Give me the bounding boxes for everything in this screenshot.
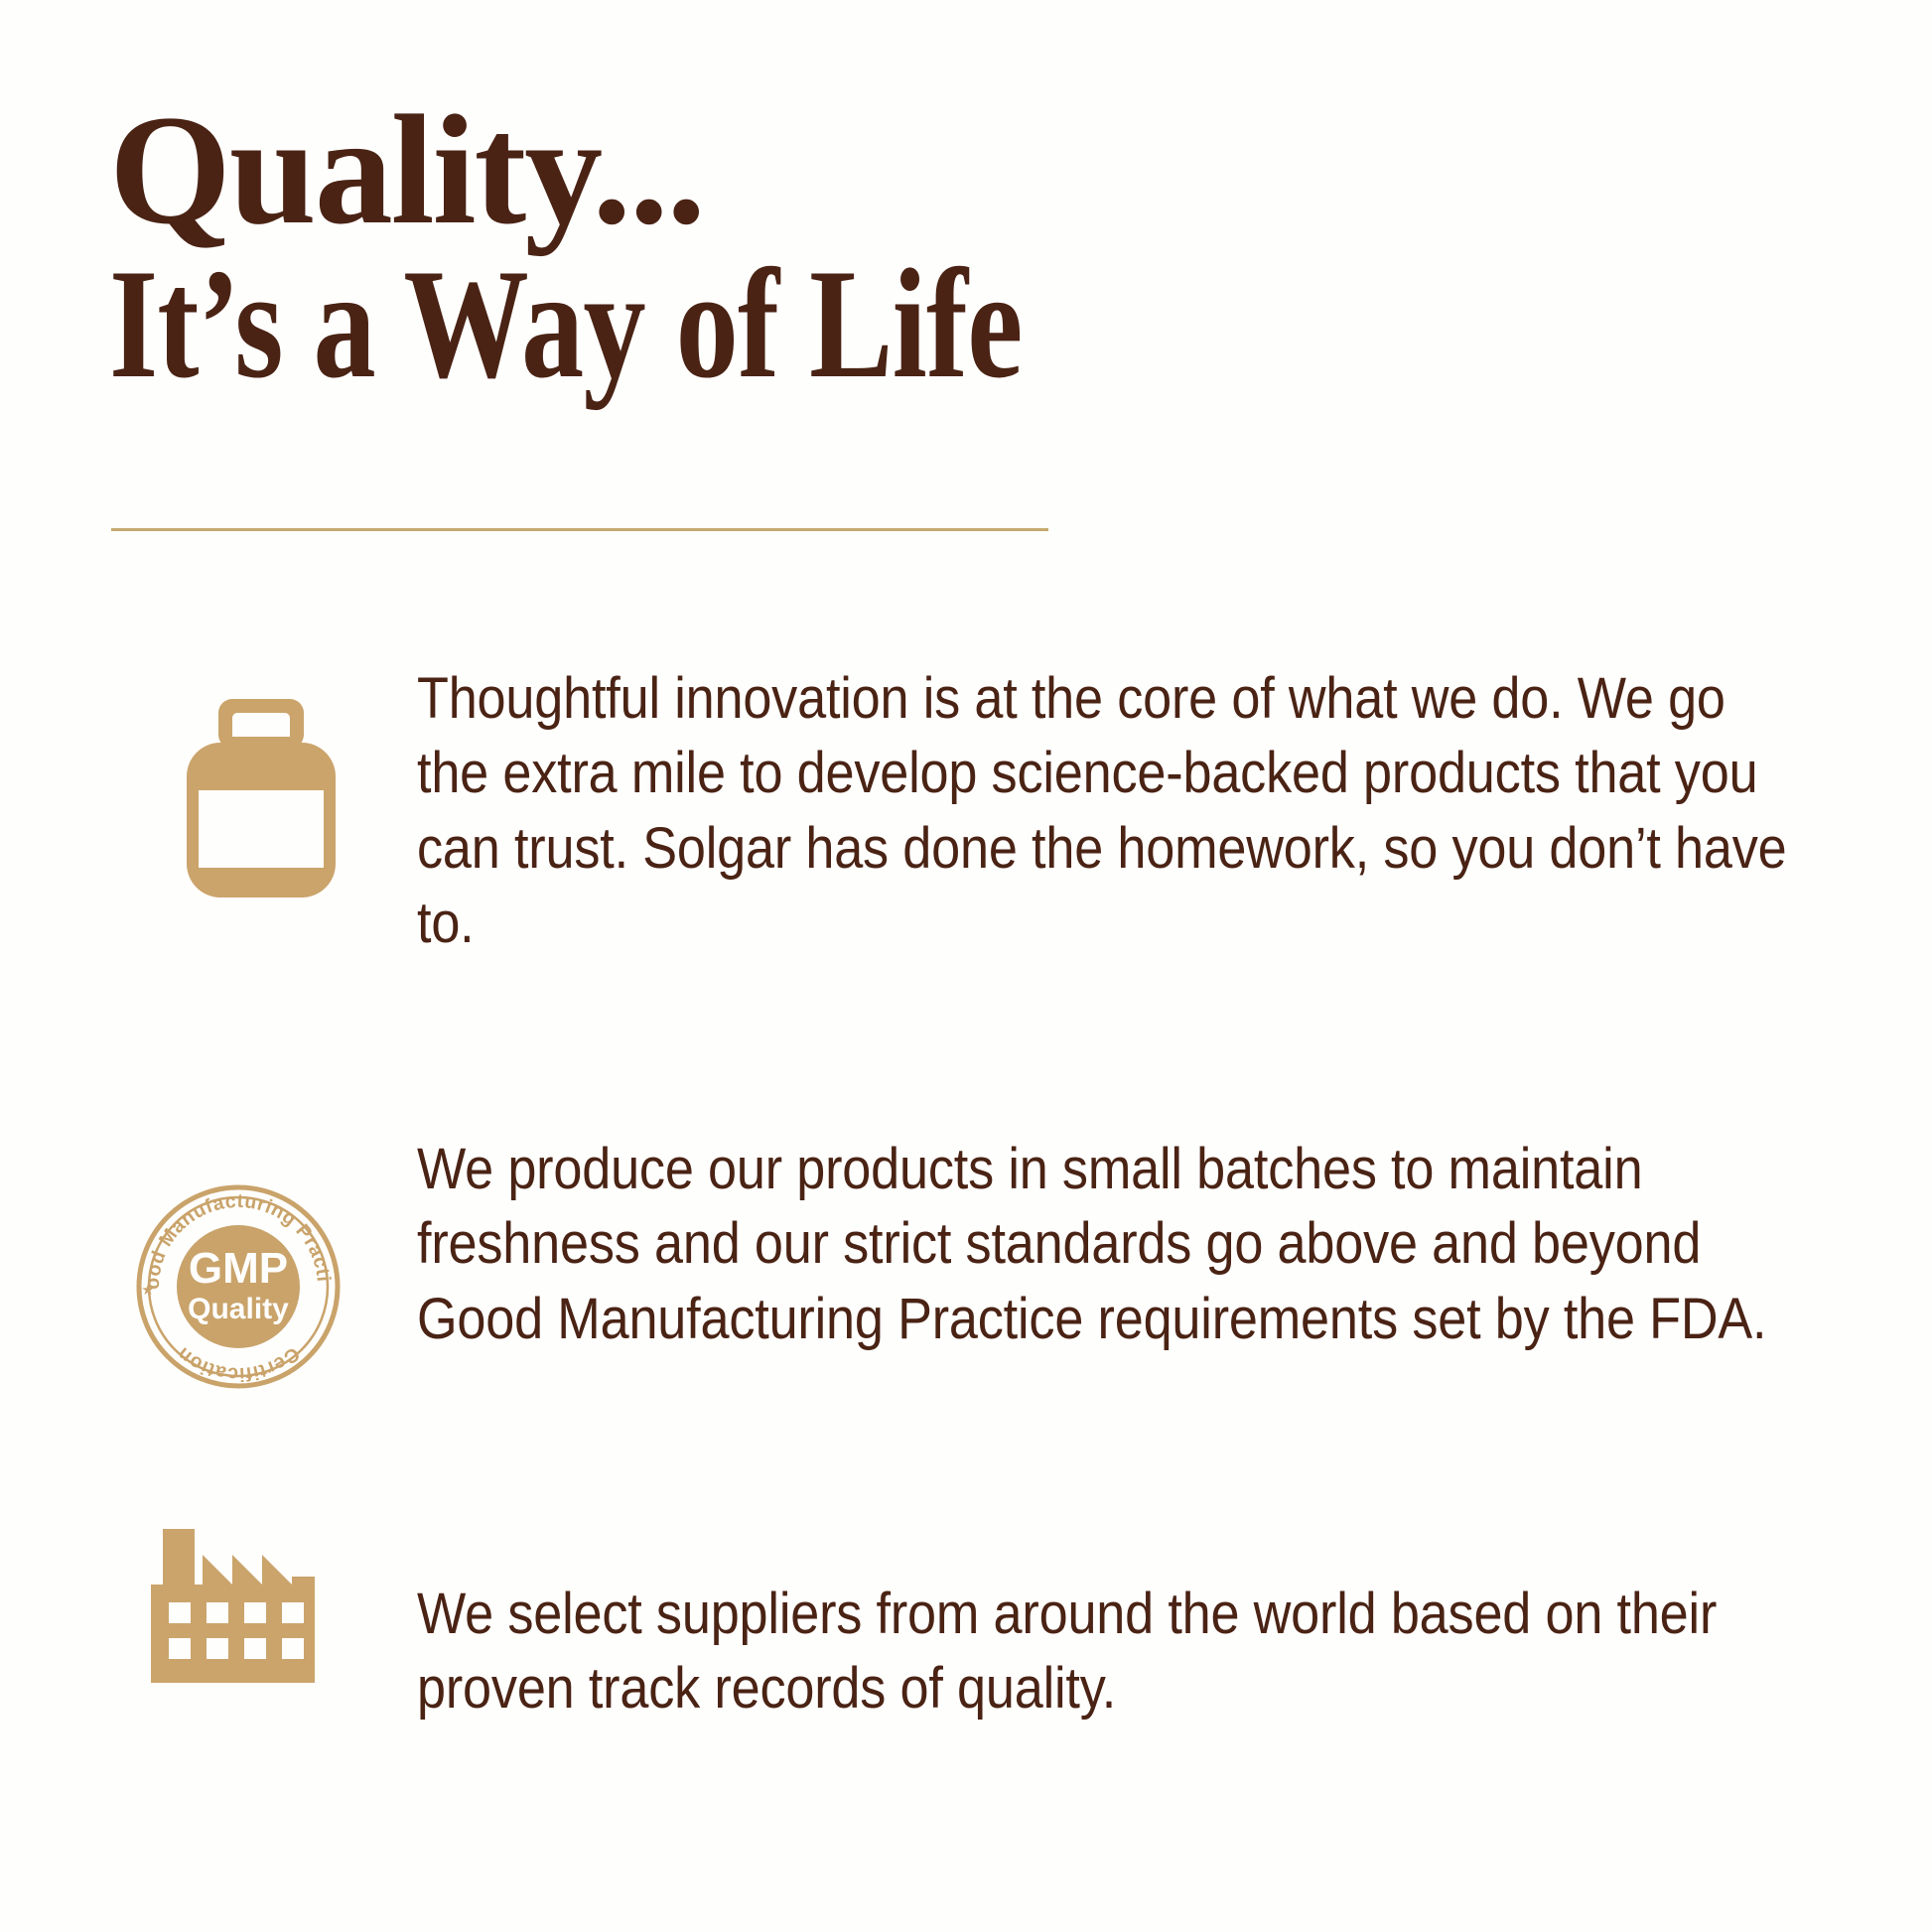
svg-text:GMP: GMP xyxy=(189,1244,288,1293)
gmp-quality-seal-icon: Good Manufacturing Practice Certificatio… xyxy=(131,1179,345,1394)
feature-text-innovation: Thoughtful innovation is at the core of … xyxy=(417,661,1811,961)
feature-text-small-batches: We produce our products in small batches… xyxy=(417,1132,1829,1356)
svg-text:★: ★ xyxy=(141,1281,154,1299)
factory-icon xyxy=(151,1529,315,1683)
quality-page: Quality... It’s a Way of Life T xyxy=(0,0,1932,1932)
svg-text:Quality: Quality xyxy=(188,1293,289,1325)
supplement-jar-icon xyxy=(177,699,345,897)
page-title-line-1: Quality... xyxy=(109,95,1598,246)
feature-text-suppliers: We select suppliers from around the worl… xyxy=(417,1577,1757,1726)
divider xyxy=(111,528,1048,531)
page-title: Quality... It’s a Way of Life xyxy=(109,95,1598,403)
page-title-line-2: It’s a Way of Life xyxy=(109,246,1301,403)
svg-text:Certification: Certification xyxy=(173,1342,304,1385)
